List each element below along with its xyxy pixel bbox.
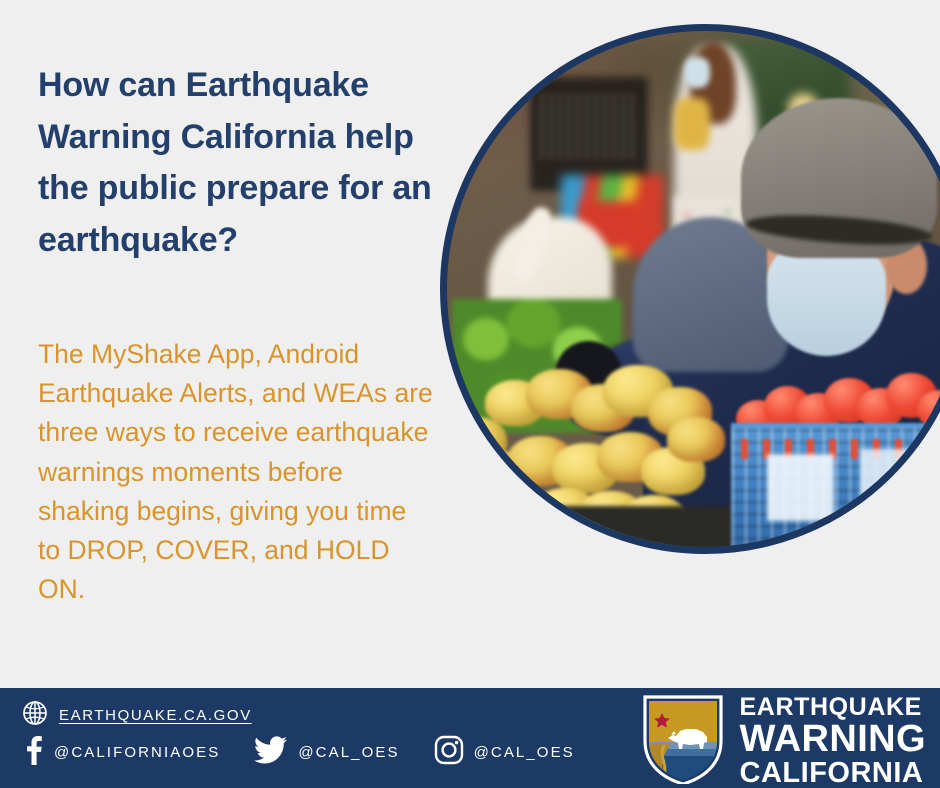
facebook-icon	[22, 735, 44, 770]
footer-bar: EARTHQUAKE.CA.GOV @CALIFORNIAOES @CAL_OE…	[0, 688, 940, 788]
page-title: How can Earthquake Warning California he…	[38, 60, 438, 267]
social-link-twitter[interactable]: @CAL_OES	[254, 735, 399, 770]
earthquake-warning-california-logo: EARTHQUAKE WARNING CALIFORNIA	[640, 694, 926, 788]
market-photo	[440, 24, 940, 554]
social-links: @CALIFORNIAOES @CAL_OES	[22, 735, 609, 770]
logo-line-warning: WARNING	[740, 721, 926, 759]
earthquake-warning-california-graphic: How can Earthquake Warning California he…	[0, 0, 940, 788]
twitter-icon	[254, 735, 288, 770]
website-link[interactable]: EARTHQUAKE.CA.GOV	[22, 700, 252, 731]
globe-icon	[22, 700, 48, 731]
logo-line-earthquake: EARTHQUAKE	[740, 695, 926, 720]
logo-line-california: CALIFORNIA	[740, 759, 926, 788]
body-copy: The MyShake App, Android Earthquake Aler…	[38, 335, 433, 610]
social-link-instagram[interactable]: @CAL_OES	[434, 735, 575, 770]
california-shield-icon	[640, 694, 726, 788]
facebook-handle: @CALIFORNIAOES	[54, 744, 220, 761]
website-url-label[interactable]: EARTHQUAKE.CA.GOV	[59, 707, 252, 724]
social-link-facebook[interactable]: @CALIFORNIAOES	[22, 735, 220, 770]
instagram-icon	[434, 735, 464, 770]
instagram-handle: @CAL_OES	[474, 744, 575, 761]
twitter-handle: @CAL_OES	[298, 744, 399, 761]
